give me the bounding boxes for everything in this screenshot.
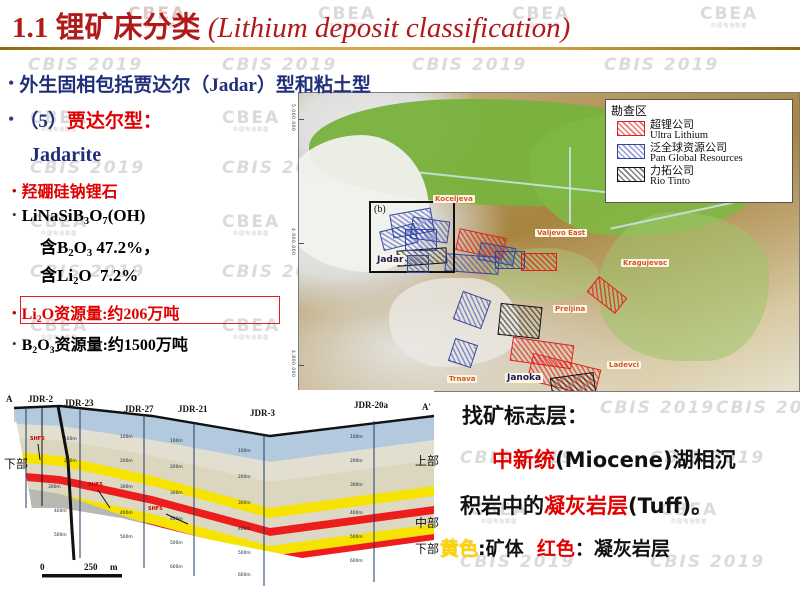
legend-swatch-pan-global <box>617 144 645 159</box>
right-note-line3: 积岩中的凝灰岩层(Tuff)。 <box>460 490 712 520</box>
legend-label-en: Rio Tinto <box>650 177 694 188</box>
section-label-right-lower: 下部 <box>415 540 439 557</box>
marker-bed-label: SHF6 <box>30 436 45 442</box>
bullet-item: •LiNaSiB3O7(OH) <box>12 206 145 227</box>
bullet-text: B2O3资源量:约1500万吨 <box>22 337 188 354</box>
depth-tick: 300m <box>238 500 251 506</box>
bullet-item: •B2O3资源量:约1500万吨 <box>12 331 188 356</box>
legend-entry: 超锂公司 Ultra Lithium <box>617 120 789 142</box>
depth-tick: 300m <box>120 484 133 490</box>
color-key-red-value: ：凝灰岩层 <box>575 538 670 560</box>
map-label-valjevo-east: Valjevo East <box>535 229 587 237</box>
bullet-marker: • <box>12 305 17 321</box>
depth-tick: 500m <box>238 550 251 556</box>
right-note-line1: 找矿标志层： <box>462 400 588 430</box>
bullet-marker: • <box>8 73 14 94</box>
right-note-highlight: 凝灰岩层 <box>544 494 628 518</box>
map-label-trnava: Trnava <box>447 375 477 383</box>
color-key-yellow-value: :矿体 <box>478 538 524 560</box>
page-title: 1.1 锂矿床分类 (Lithium deposit classificatio… <box>12 4 570 46</box>
map-label-kragujevac: Kragujevac <box>621 259 669 267</box>
exploration-map: Belgrade ★ (b) Jadar Koceljeva Valjevo E… <box>298 92 800 392</box>
section-end-label: A' <box>422 402 431 412</box>
depth-tick: 100m <box>120 434 133 440</box>
bullet-marker: • <box>8 109 14 130</box>
color-key: 黄色:矿体 红色：凝灰岩层 <box>440 534 670 561</box>
title-divider <box>0 47 800 50</box>
right-note-line2: 中新统(Miocene)湖相沉 <box>492 444 736 474</box>
color-key-red: 红色 <box>537 538 575 560</box>
borehole-label: JDR-3 <box>250 408 275 418</box>
watermark-cbis: CBIS 2019 <box>412 55 527 75</box>
formula-line: 含B2O3 47.2%， <box>40 233 160 259</box>
depth-tick: 600m <box>238 572 251 578</box>
depth-tick: 200m <box>238 474 251 480</box>
legend-label-en: Ultra Lithium <box>650 131 708 142</box>
map-label-jadar: Jadar <box>375 255 405 265</box>
formula-line: 含Li2O 7.2% <box>40 261 138 287</box>
bullet-marker: • <box>12 207 17 223</box>
slide-title: 1.1 锂矿床分类 (Lithium deposit classificatio… <box>0 2 800 48</box>
depth-tick: 100m <box>238 448 251 454</box>
watermark-cbis: CBIS 2019 <box>600 398 715 418</box>
borehole-label: JDR-23 <box>64 398 94 408</box>
depth-tick: 200m <box>350 458 363 464</box>
concession-polygon <box>497 303 542 339</box>
bullet-item: •（5）贾达尔型： <box>8 106 162 133</box>
title-cn: 1.1 锂矿床分类 <box>12 12 201 44</box>
slide-canvas: CBEA中国电池联盟 CBEA中国电池联盟 CBEA中国电池联盟 CBEA中国电… <box>0 0 800 600</box>
bullet-item: •Li2O资源量:约206万吨 <box>12 300 179 325</box>
right-note-text: 找矿标志层： <box>462 404 588 428</box>
depth-tick: 300m <box>48 484 61 490</box>
legend-swatch-ultra-lithium <box>617 121 645 136</box>
cross-section-svg: JDR-2 JDR-23 JDR-27 JDR-21 JDR-3 JDR-20a… <box>2 390 434 590</box>
map-label-preljina: Preljina <box>553 305 587 313</box>
section-start-label: A <box>6 394 13 404</box>
legend-entry: 泛全球资源公司 Pan Global Resources <box>617 143 789 165</box>
bullet-item: •羟硼硅钠锂石 <box>12 178 118 202</box>
right-note-highlight: 中新统 <box>492 448 555 472</box>
right-note-head: 积岩中的 <box>460 494 544 518</box>
depth-tick: 400m <box>350 510 363 516</box>
borehole-label: JDR-2 <box>28 394 53 404</box>
borehole-label: JDR-20a <box>354 400 388 410</box>
depth-tick: 300m <box>170 490 183 496</box>
bullet-text: LiNaSiB3O7(OH) <box>22 206 146 225</box>
watermark-cbea: CBEA中国电池联盟 <box>222 108 280 133</box>
map-legend: 勘查区 超锂公司 Ultra Lithium 泛全球资源公司 Pan Globa… <box>605 99 793 203</box>
map-label-koceljeva: Koceljeva <box>433 195 475 203</box>
scale-bar <box>42 574 122 578</box>
depth-tick: 500m <box>120 534 133 540</box>
scale-start: 0 <box>40 562 45 572</box>
map-label-janoka: Janoka <box>505 373 543 383</box>
scale-unit: m <box>110 562 118 572</box>
map-label-ladevci: Ladevci <box>607 361 641 369</box>
depth-tick: 500m <box>350 534 363 540</box>
depth-tick: 200m <box>170 464 183 470</box>
depth-tick: 400m <box>54 508 67 514</box>
legend-entry: 力拓公司 Rio Tinto <box>617 166 789 188</box>
depth-tick: 100m <box>170 438 183 444</box>
depth-tick: 300m <box>350 482 363 488</box>
map-axis-label: 4,800,000 <box>290 350 295 377</box>
right-note-tail: 。 <box>691 494 712 518</box>
legend-swatch-rio-tinto <box>617 167 645 182</box>
depth-tick: 400m <box>238 526 251 532</box>
bullet-item: •外生固相包括贾达尔（Jadar）型和粘土型 <box>8 70 371 97</box>
bullet-text: Li2O资源量:约206万吨 <box>22 306 180 323</box>
title-en: (Lithium deposit classification) <box>208 12 571 44</box>
color-key-yellow: 黄色 <box>440 538 478 560</box>
borehole-label: JDR-27 <box>124 404 154 414</box>
formula-text: 含Li2O 7.2% <box>40 266 138 285</box>
bullet-text: 羟硼硅钠锂石 <box>22 184 118 201</box>
depth-tick: 100m <box>350 434 363 440</box>
marker-bed-label: SHF5 <box>148 506 163 512</box>
bullet-prefix: （5） <box>19 111 67 132</box>
scale-end: 250 <box>84 562 98 572</box>
borehole-label: JDR-21 <box>178 404 208 414</box>
bullet-text: 外生固相包括贾达尔（Jadar）型和粘土型 <box>19 75 371 96</box>
watermark-cbis: CBIS 2019 <box>716 398 800 418</box>
right-note-mid: (Miocene) <box>555 448 673 472</box>
bullet-text: Jadarite <box>30 144 101 166</box>
map-axis-label: 4,900,000 <box>290 228 295 255</box>
watermark-cbis: CBIS 2019 <box>604 55 719 75</box>
depth-tick: 600m <box>350 558 363 564</box>
watermark-cbea: CBEA中国电池联盟 <box>222 212 280 237</box>
cross-section-diagram: JDR-2 JDR-23 JDR-27 JDR-21 JDR-3 JDR-20a… <box>2 390 434 590</box>
formula-text: 含B2O3 47.2%， <box>40 238 160 257</box>
right-note-mid: (Tuff) <box>628 494 691 518</box>
depth-tick: 200m <box>120 458 133 464</box>
right-note-tail: 湖相沉 <box>673 448 736 472</box>
legend-title: 勘查区 <box>611 102 789 119</box>
section-label-right-middle: 中部 <box>415 514 439 531</box>
depth-tick: 200m <box>64 458 77 464</box>
bullet-text: 贾达尔型： <box>67 111 162 132</box>
map-axis-label: 5,000,000 <box>290 104 295 131</box>
bullet-marker: • <box>12 336 17 352</box>
inset-tag: (b) <box>374 204 386 215</box>
bullet-item: Jadarite <box>30 144 101 167</box>
section-label-left-lower: 下部 <box>4 455 28 472</box>
depth-tick: 500m <box>170 540 183 546</box>
section-label-right-upper: 上部 <box>415 452 439 469</box>
bullet-marker: • <box>12 183 17 199</box>
marker-bed-label: SHF5 <box>88 482 103 488</box>
depth-tick: 100m <box>64 436 77 442</box>
depth-tick: 500m <box>54 532 67 538</box>
depth-tick: 400m <box>120 510 133 516</box>
depth-tick: 600m <box>170 564 183 570</box>
legend-label-en: Pan Global Resources <box>650 154 743 165</box>
concession-polygon <box>521 253 557 271</box>
